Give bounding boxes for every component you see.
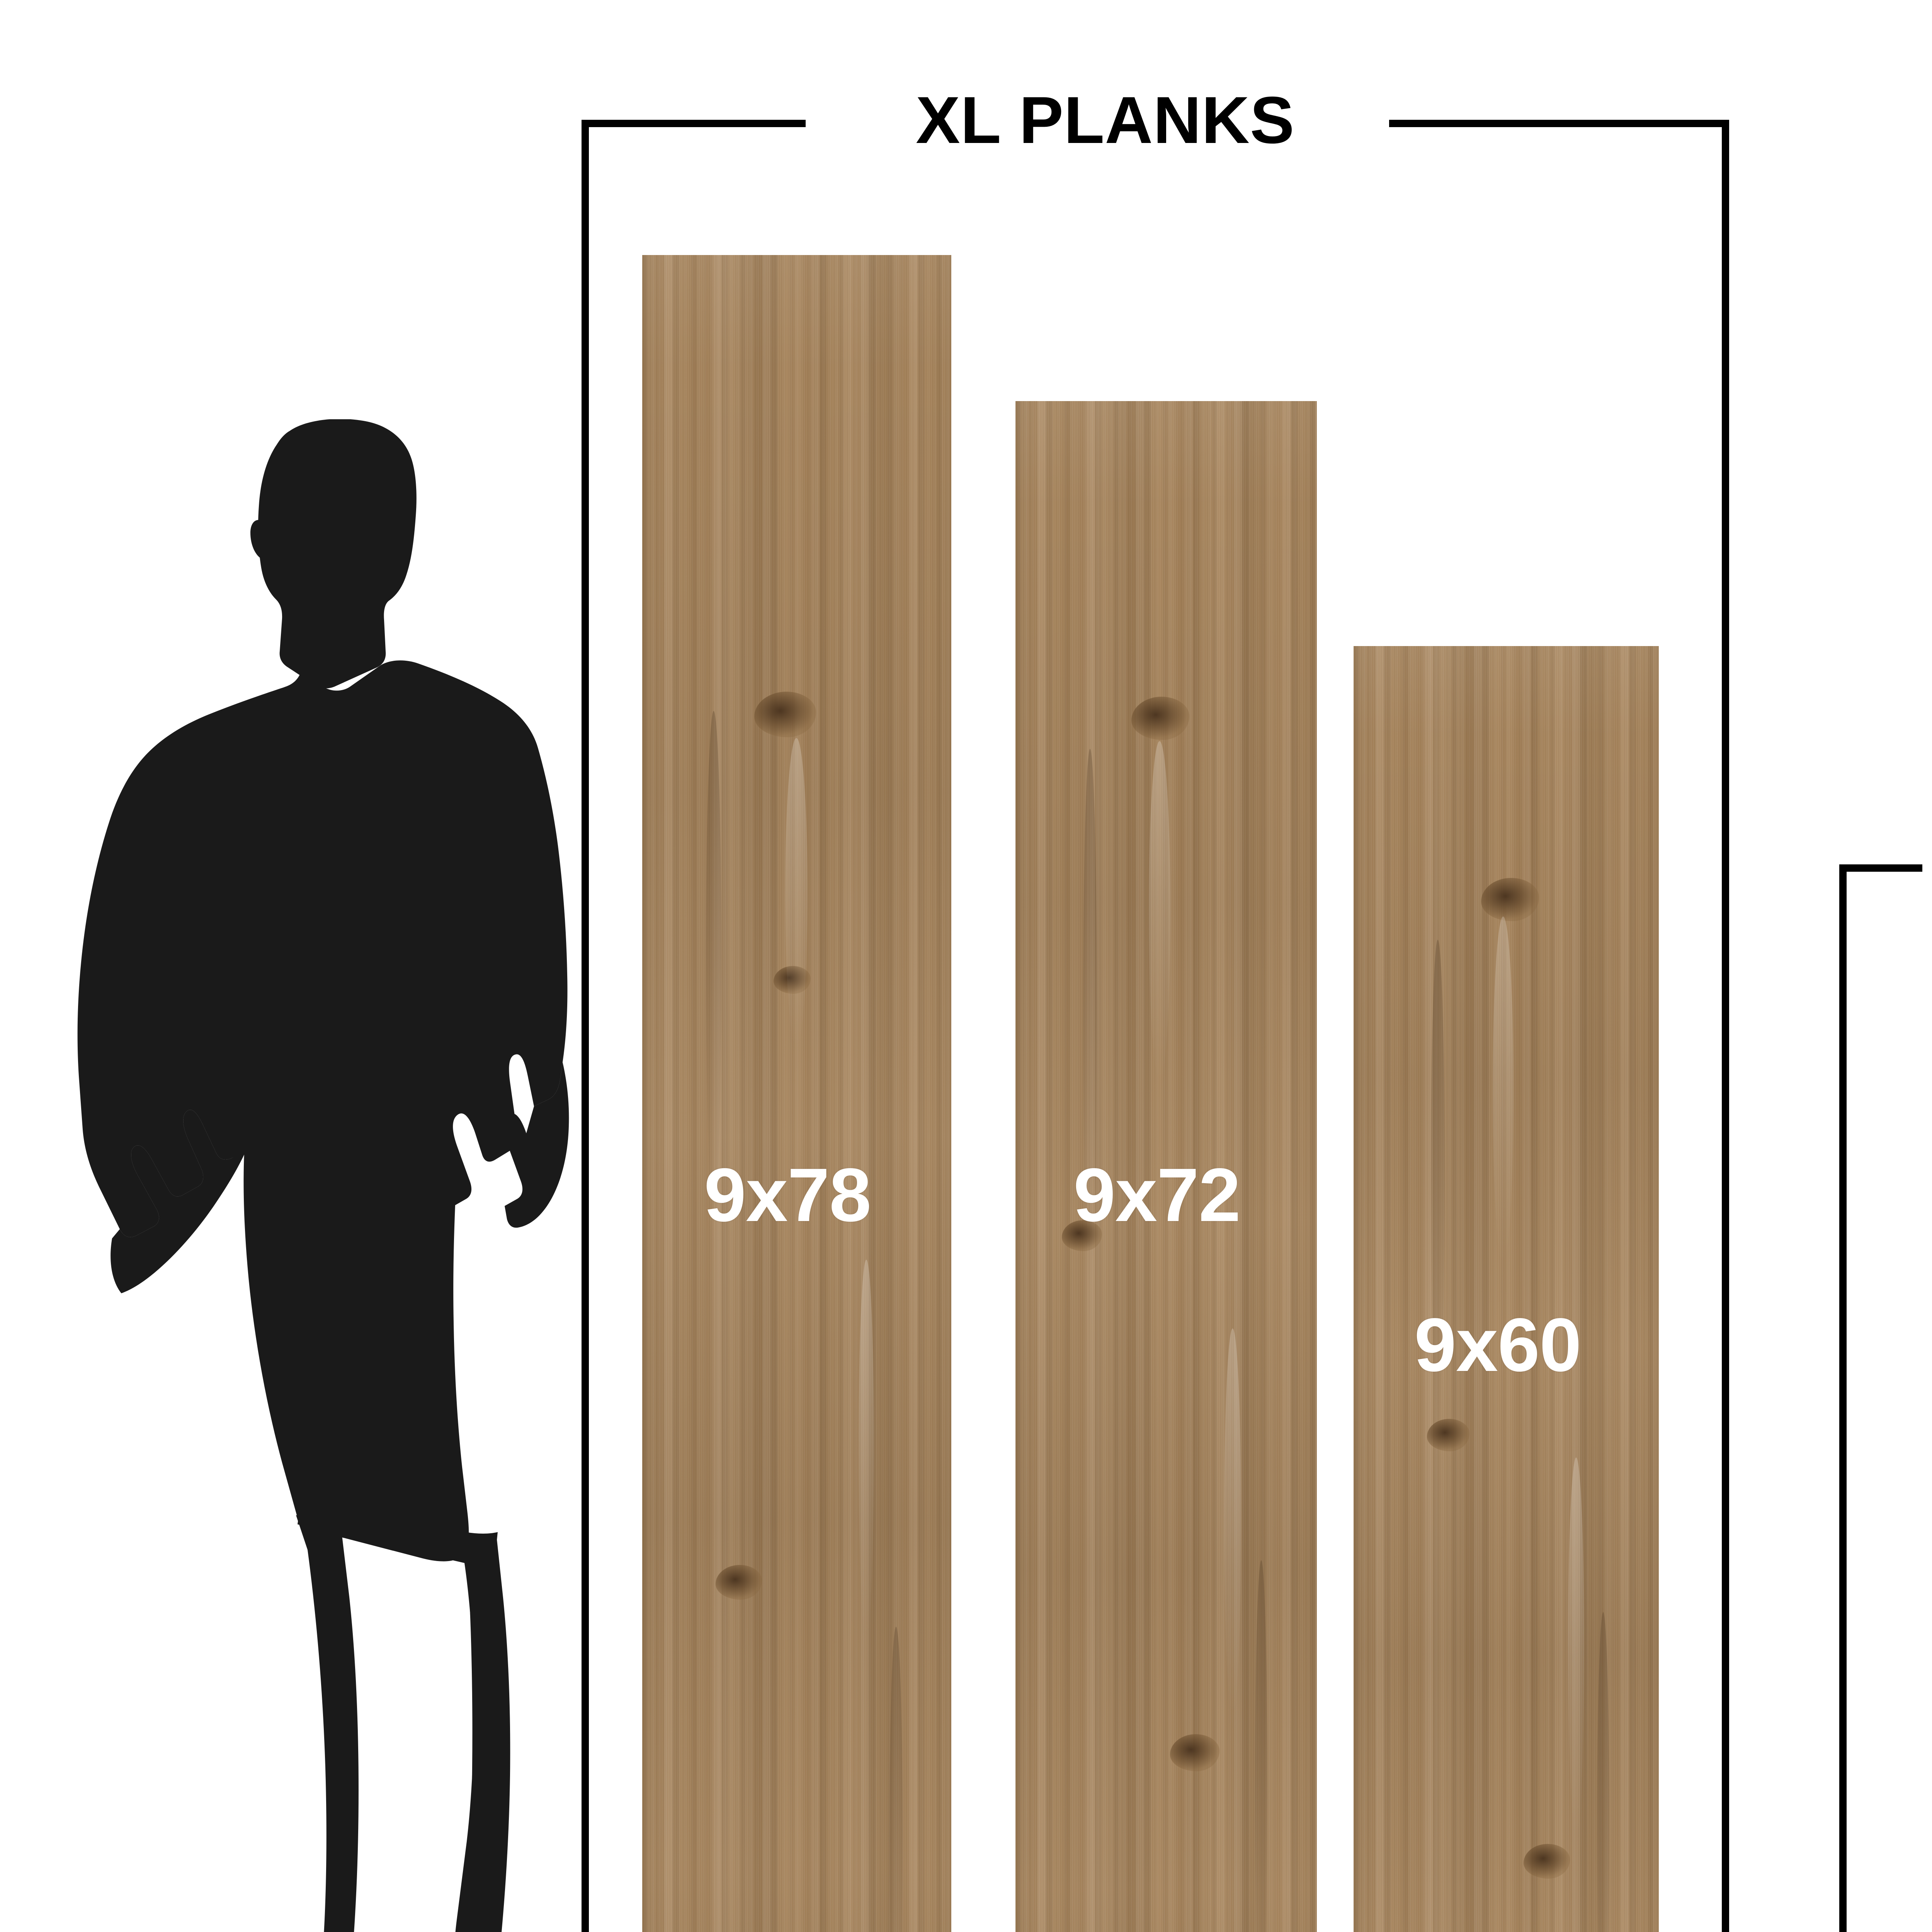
plank-9x78	[642, 255, 951, 1932]
wood-light-streak	[1568, 1458, 1584, 1836]
wood-knot	[1170, 1734, 1219, 1771]
bracket-standard-size	[1839, 864, 1932, 1932]
wood-knot	[1481, 878, 1539, 921]
bracket-top-left-segment	[1839, 864, 1922, 872]
plank-9x60	[1354, 646, 1659, 1932]
group-label-xl-planks: XL PLANKS	[916, 82, 1295, 158]
plank-label-9x78: 9x78	[704, 1151, 871, 1238]
bracket-left-side	[1839, 864, 1847, 1932]
wood-light-streak	[859, 1260, 874, 1638]
infographic-canvas: XL PLANKS STANDARD SIZE 9x78	[0, 0, 1932, 1932]
bracket-top-left-segment	[582, 120, 806, 127]
wood-knot	[1427, 1419, 1469, 1451]
wood-light-streak	[785, 738, 808, 1047]
wood-light-streak	[1493, 917, 1514, 1264]
bracket-right-side	[1722, 120, 1729, 1932]
wood-light-streak	[1224, 1328, 1241, 1715]
wood-knot	[1524, 1844, 1570, 1879]
man-silhouette	[50, 419, 622, 1932]
wood-shading	[642, 255, 951, 1932]
wood-knot	[1131, 697, 1189, 740]
wood-shading	[1354, 646, 1659, 1932]
wood-knot	[754, 692, 816, 737]
wood-light-streak	[1149, 741, 1170, 1081]
bracket-top-right-segment	[1389, 120, 1729, 127]
wood-knot	[716, 1565, 762, 1600]
wood-dark-streak	[706, 711, 721, 1213]
plank-label-9x72: 9x72	[1073, 1151, 1240, 1238]
plank-label-9x60: 9x60	[1414, 1301, 1581, 1388]
